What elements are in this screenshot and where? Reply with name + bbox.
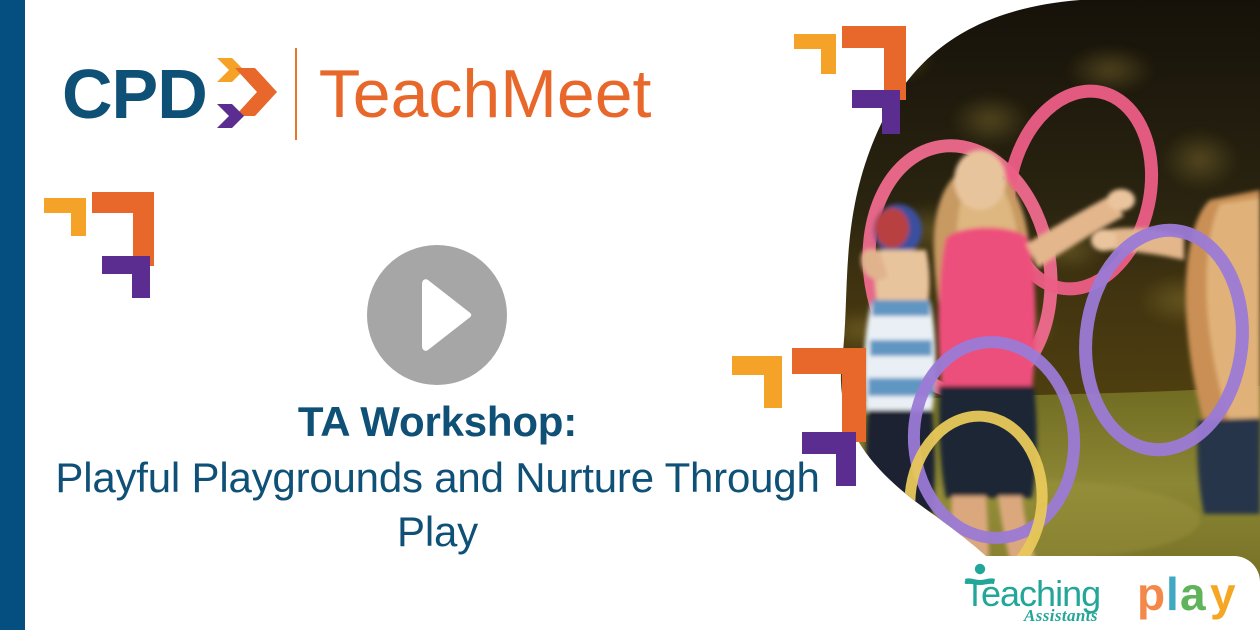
cpd-teachmeet-logo: CPD TeachMeet [62,48,651,140]
cpd-wordmark: CPD [62,59,207,129]
page-title: TA Workshop: Playful Playgrounds and Nur… [25,398,850,559]
teachmeet-wordmark: TeachMeet [319,60,652,128]
title-line-1: TA Workshop: [25,398,850,445]
left-accent-bar [0,0,25,630]
corner-bracket-decoration-top-right [792,26,920,138]
corner-bracket-decoration-left [42,190,170,300]
logo-divider [295,48,297,140]
title-line-2: Playful Playgrounds and Nurture Through … [25,451,850,559]
svg-text:p: p [1137,568,1165,620]
teaching-assistants-logo: Teaching Assistants Teaching Assistants [962,562,1134,624]
play-logo: p l a y play [1136,564,1254,622]
video-thumbnail-slide: CPD TeachMeet [0,0,1260,630]
partner-logo-plate: Teaching Assistants Teaching Assistants … [948,556,1260,630]
svg-text:y: y [1210,568,1236,620]
chevron-double-right-icon [213,48,287,140]
svg-text:a: a [1180,568,1206,620]
svg-text:Assistants: Assistants [1023,606,1098,624]
svg-text:l: l [1166,568,1179,620]
play-button[interactable] [367,245,507,385]
